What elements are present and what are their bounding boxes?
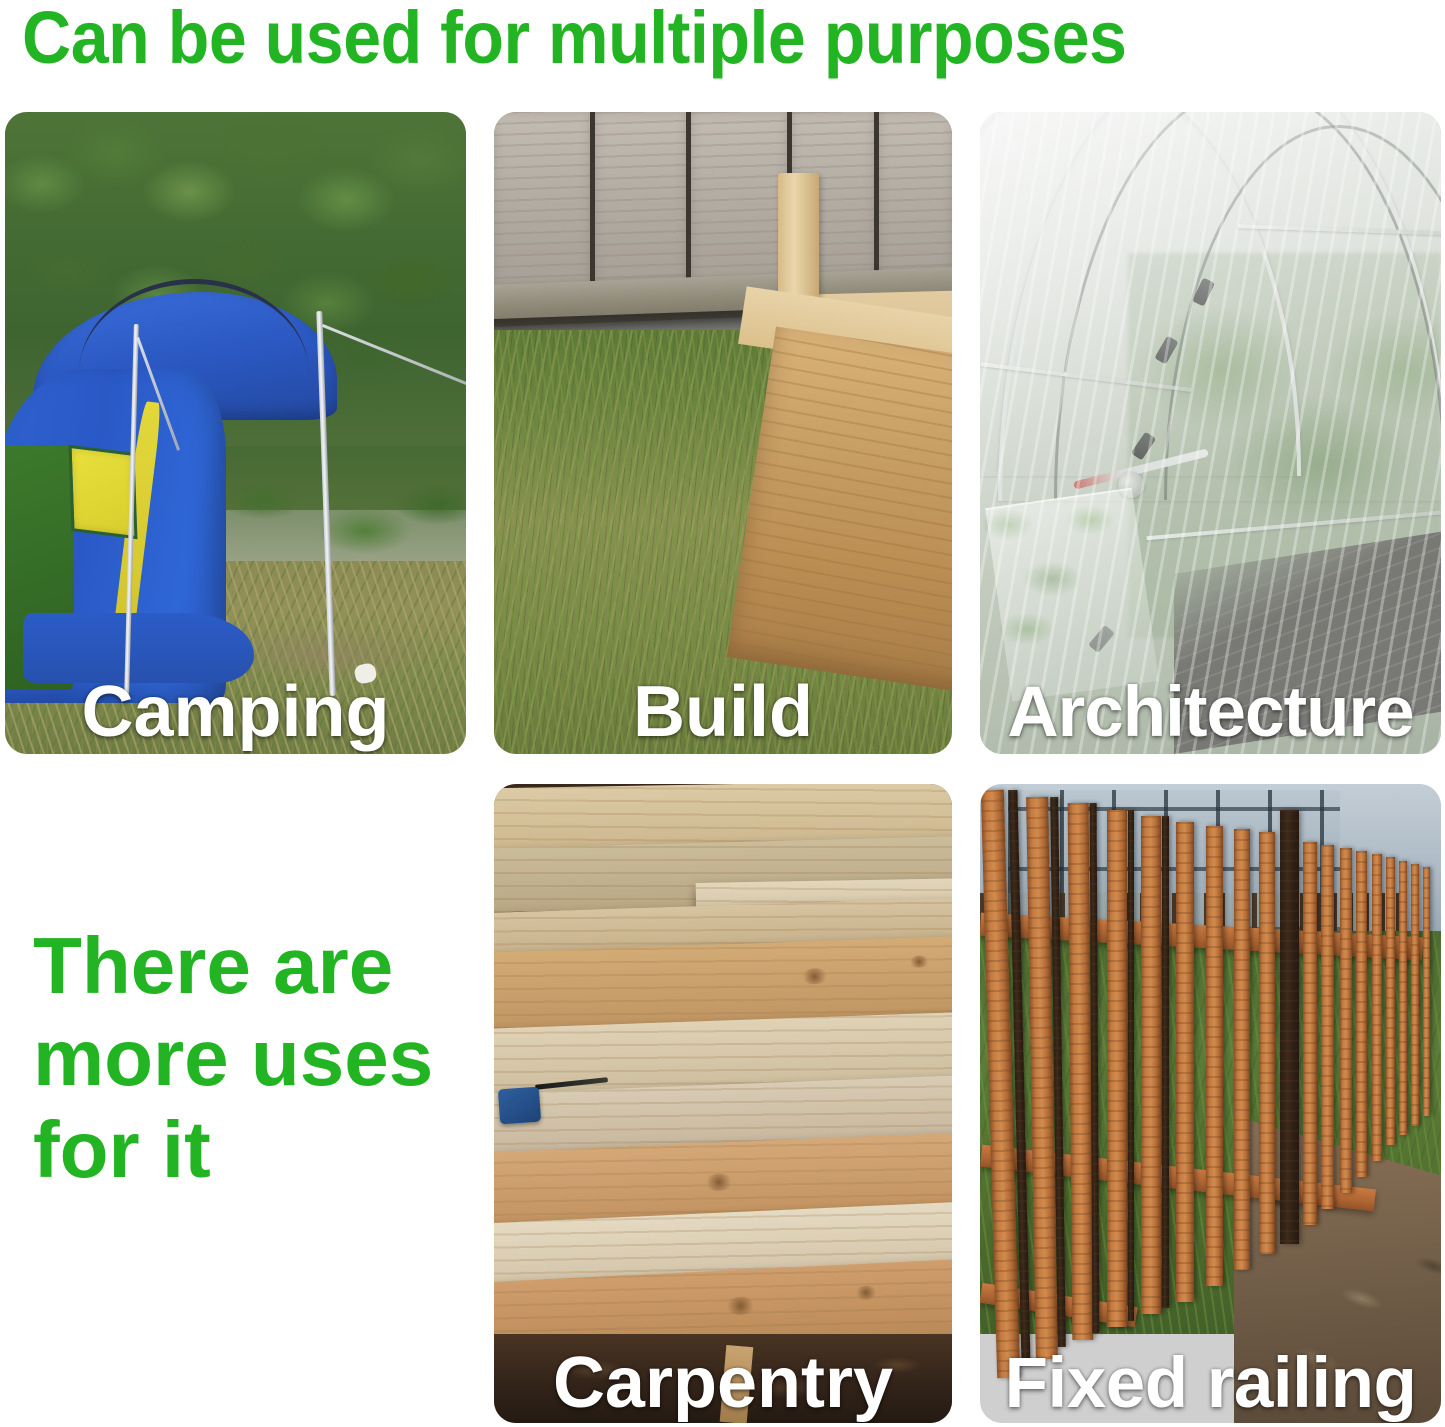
fence-picket: [1141, 816, 1160, 1314]
more-uses-line-2: more uses: [33, 1012, 453, 1104]
fence-picket: [1411, 864, 1419, 1126]
fence-picket: [1259, 832, 1275, 1254]
more-uses-line-1: There are: [33, 920, 453, 1012]
fence-plank: [595, 112, 687, 305]
fence-picket: [1340, 848, 1352, 1193]
use-case-card-railing: Fixed railing: [980, 784, 1441, 1423]
fence-picket: [1176, 822, 1194, 1301]
wood-knot: [854, 1285, 877, 1300]
fence-picket-shadowed: [1162, 816, 1168, 1308]
fence-picket: [1399, 861, 1408, 1136]
wood-knot: [725, 1296, 756, 1315]
fence-picket: [1372, 854, 1382, 1161]
plastic-film-cover: [980, 112, 1441, 754]
fence-plank: [494, 112, 590, 305]
wood-knot: [704, 1173, 733, 1191]
more-uses-note: There are more uses for it: [33, 920, 453, 1196]
fence-photo: [980, 784, 1441, 1423]
camping-photo: [5, 112, 466, 754]
carpentry-photo: [494, 784, 952, 1423]
use-case-card-carpentry: Carpentry: [494, 784, 952, 1423]
fence-picket: [1303, 842, 1317, 1225]
fence-picket: [1321, 845, 1334, 1209]
use-case-card-camping: Camping: [5, 112, 466, 754]
fence-picket: [1206, 826, 1224, 1286]
use-case-card-build: Build: [494, 112, 952, 754]
use-case-card-architecture: Architecture: [980, 112, 1441, 754]
wood-knot: [909, 955, 929, 968]
tape-measure: [497, 1086, 541, 1124]
fence-picket: [1423, 867, 1431, 1116]
wood-knot: [801, 967, 828, 984]
build-photo: [494, 112, 952, 754]
tent-window: [68, 445, 137, 540]
page-title: Can be used for multiple purposes: [22, 2, 1310, 74]
greenhouse-photo: [980, 112, 1441, 754]
fence-picket: [1386, 857, 1395, 1145]
fence-picket: [1356, 851, 1367, 1177]
more-uses-line-3: for it: [33, 1104, 453, 1196]
tent-skirt: [23, 613, 254, 684]
fence-picket: [1234, 829, 1251, 1270]
fence-picket-shadowed: [1128, 810, 1135, 1321]
fence-picket: [1107, 810, 1127, 1328]
fence-post-dark: [1280, 810, 1299, 1245]
